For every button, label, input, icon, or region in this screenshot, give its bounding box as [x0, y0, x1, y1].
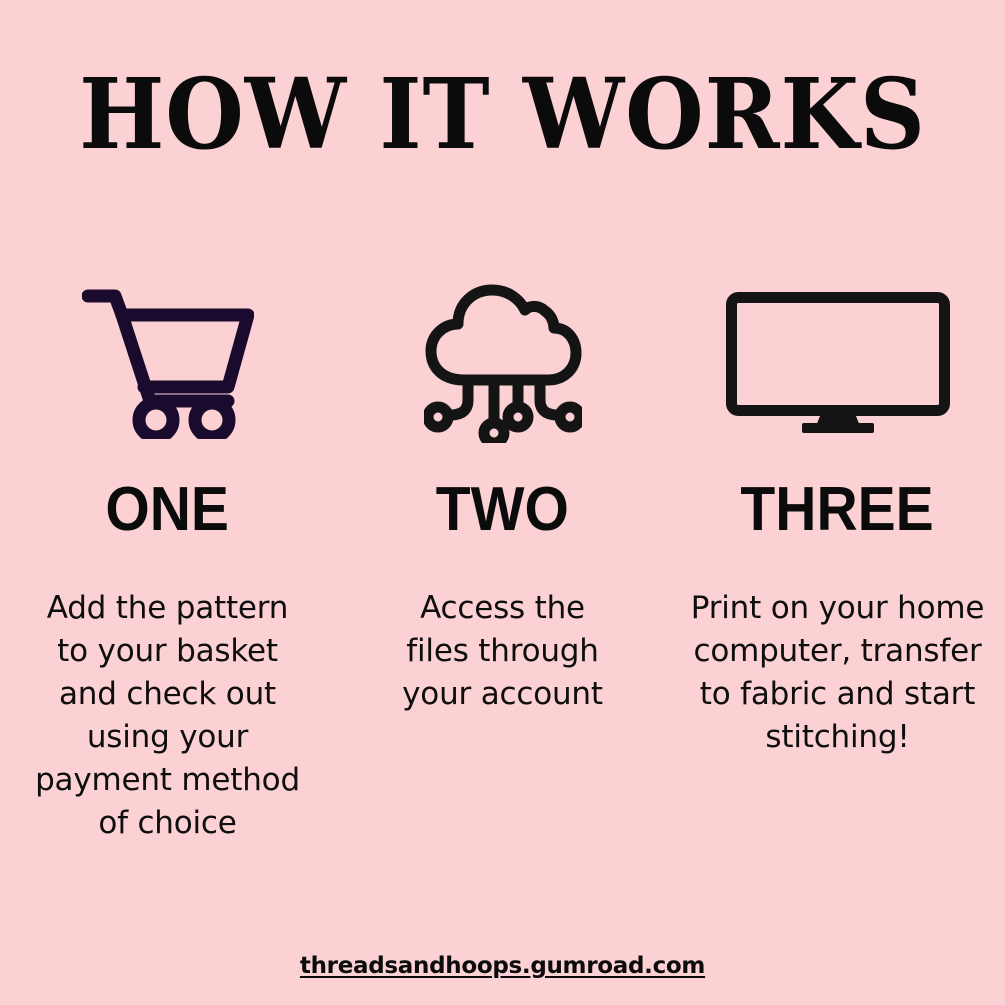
footer: threadsandhoops.gumroad.com [0, 953, 1005, 979]
step-column-two: TWO Access the files through your accoun… [335, 270, 670, 716]
step-column-one: ONE Add the pattern to your basket and c… [0, 270, 335, 845]
steps-row: ONE Add the pattern to your basket and c… [0, 270, 1005, 845]
step-column-three: THREE Print on your home computer, trans… [670, 270, 1005, 759]
shop-url-link[interactable]: threadsandhoops.gumroad.com [300, 953, 705, 979]
step-body-one: Add the pattern to your basket and check… [35, 587, 300, 845]
step-heading-three: THREE [741, 477, 934, 543]
shopping-cart-icon [82, 270, 254, 455]
how-it-works-poster: HOW IT WORKS ONE Add the pattern to your… [0, 0, 1005, 1005]
page-title: HOW IT WORKS [35, 62, 970, 166]
cloud-network-icon [424, 270, 582, 455]
step-body-two: Access the files through your account [402, 587, 603, 716]
step-body-three: Print on your home computer, transfer to… [691, 587, 984, 759]
step-heading-two: TWO [436, 477, 569, 543]
step-heading-one: ONE [106, 477, 230, 543]
computer-monitor-icon [726, 270, 950, 455]
